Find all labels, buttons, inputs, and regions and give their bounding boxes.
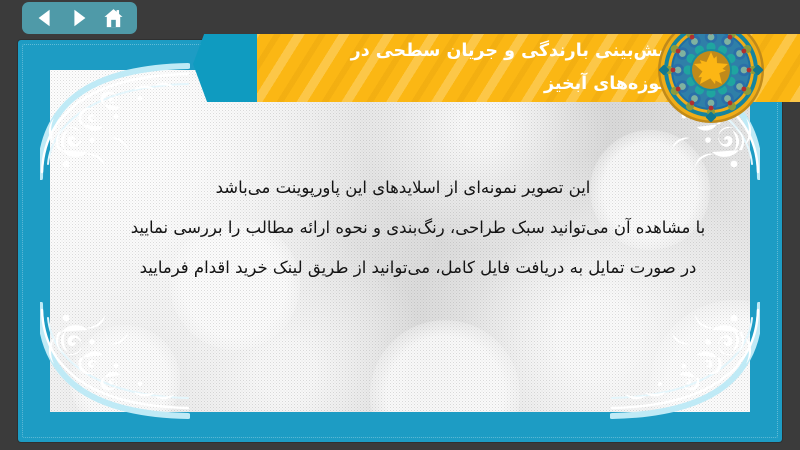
navigation-bar [0, 0, 800, 34]
bokeh-circle [370, 320, 520, 412]
next-slide-button[interactable] [66, 6, 92, 30]
triangle-left-icon [34, 7, 56, 29]
bokeh-circle [70, 325, 180, 412]
bokeh-circle [650, 300, 750, 412]
triangle-right-icon [68, 7, 90, 29]
slide-viewer: این تصویر نمونه‌ای از اسلایدهای این پاور… [0, 0, 800, 450]
home-icon [102, 7, 125, 30]
body-line: این تصویر نمونه‌ای از اسلایدهای این پاور… [78, 168, 758, 208]
navigation-button-group [22, 2, 137, 34]
previous-slide-button[interactable] [32, 6, 58, 30]
home-button[interactable] [101, 6, 127, 30]
body-line: در صورت تمایل به دریافت فایل کامل، می‌تو… [78, 248, 758, 288]
body-line: با مشاهده آن می‌توانید سبک طراحی، رنگ‌بن… [78, 208, 758, 248]
slide-body-text: این تصویر نمونه‌ای از اسلایدهای این پاور… [78, 168, 758, 288]
